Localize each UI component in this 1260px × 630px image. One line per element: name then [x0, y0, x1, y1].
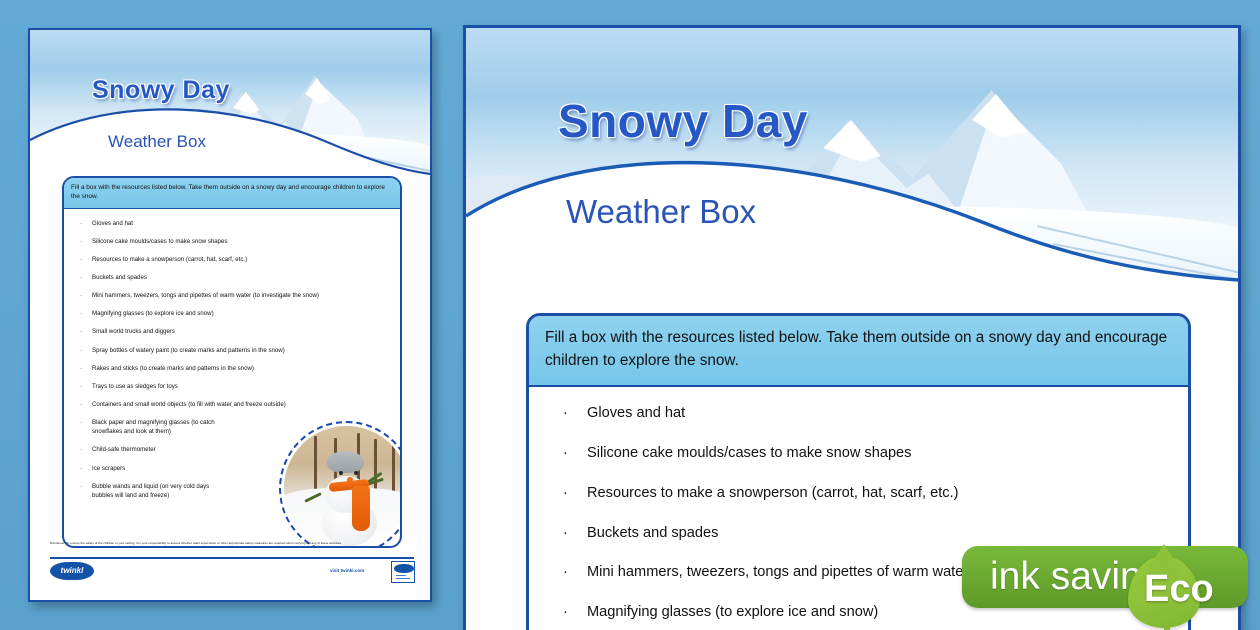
- resources-intro: Fill a box with the resources listed bel…: [529, 316, 1188, 387]
- ink-saving-eco-badge: ink saving Eco: [962, 528, 1260, 630]
- bullet-icon: ·: [80, 464, 82, 473]
- bullet-icon: ·: [80, 346, 82, 355]
- bullet-icon: ·: [80, 327, 82, 336]
- snowman-photo: [279, 421, 402, 548]
- list-item-label: Mini hammers, tweezers, tongs and pipett…: [92, 292, 319, 299]
- resources-intro: Fill a box with the resources listed bel…: [64, 178, 400, 209]
- list-item: · Silicone cake moulds/cases to make sno…: [563, 443, 1170, 465]
- page-title: Snowy Day: [92, 76, 230, 105]
- enlarged-header-image: Snowy Day: [466, 28, 1238, 290]
- twinkl-logo[interactable]: twinkl: [50, 562, 94, 580]
- bullet-icon: ·: [80, 445, 82, 454]
- thumbnail-header-image: Snowy Day: [30, 30, 430, 182]
- list-item-label: Silicone cake moulds/cases to make snow …: [92, 238, 228, 245]
- list-item-label: Buckets and spades: [92, 274, 147, 281]
- bullet-icon: ·: [563, 403, 568, 425]
- list-item-label: Gloves and hat: [92, 220, 133, 227]
- list-item-label: Black paper and magnifying glasses (to c…: [92, 419, 215, 435]
- badge-cloud-shape: [394, 564, 414, 573]
- list-item: · Resources to make a snowperson (carrot…: [80, 255, 392, 264]
- list-item: · Buckets and spades: [80, 273, 392, 282]
- visit-link[interactable]: visit twinkl.com: [330, 568, 364, 573]
- list-item: · Trays to use as sledges for toys: [80, 382, 392, 391]
- bullet-icon: ·: [80, 237, 82, 246]
- bullet-icon: ·: [80, 309, 82, 318]
- list-item: · Rakes and sticks (to create marks and …: [80, 364, 392, 373]
- twinkl-logo-text: twinkl: [61, 566, 84, 575]
- bullet-icon: ·: [80, 255, 82, 264]
- list-item: · Magnifying glasses (to explore ice and…: [80, 309, 392, 318]
- list-item-label: Small world trucks and diggers: [92, 328, 175, 335]
- twinkl-award-badge: [391, 561, 415, 583]
- list-item-label: Trays to use as sledges for toys: [92, 383, 178, 390]
- list-item-label: Silicone cake moulds/cases to make snow …: [587, 445, 911, 461]
- list-item: · Silicone cake moulds/cases to make sno…: [80, 237, 392, 246]
- bullet-icon: ·: [80, 418, 82, 427]
- list-item-label: Bubble wands and liquid (on very cold da…: [92, 483, 209, 499]
- eco-word: Eco: [1144, 568, 1214, 611]
- bullet-icon: ·: [563, 523, 568, 545]
- footer-divider: [50, 557, 414, 559]
- list-item-label: Gloves and hat: [587, 405, 685, 421]
- badge-line: [396, 575, 406, 576]
- list-item: · Spray bottles of watery paint (to crea…: [80, 346, 392, 355]
- list-item-label: Spray bottles of watery paint (to create…: [92, 347, 285, 354]
- list-item: · Child-safe thermometer: [80, 445, 232, 454]
- bullet-icon: ·: [80, 482, 82, 491]
- list-item-label: Resources to make a snowperson (carrot, …: [92, 256, 247, 263]
- list-item: · Containers and small world objects (to…: [80, 400, 392, 409]
- list-item-label: Containers and small world objects (to f…: [92, 401, 286, 408]
- bullet-icon: ·: [80, 364, 82, 373]
- list-item: · Small world trucks and diggers: [80, 327, 392, 336]
- list-item: · Gloves and hat: [80, 219, 392, 228]
- list-item: · Black paper and magnifying glasses (to…: [80, 418, 232, 436]
- preview-stage: Snowy Day Weather Box Fill a box with th…: [0, 0, 1260, 630]
- list-item: · Ice scrapers: [80, 464, 232, 473]
- list-item: · Resources to make a snowperson (carrot…: [563, 483, 1170, 505]
- list-item: · Mini hammers, tweezers, tongs and pipe…: [80, 291, 392, 300]
- header-wave-divider: [30, 98, 430, 182]
- page-subtitle: Weather Box: [108, 132, 206, 152]
- bullet-icon: ·: [80, 382, 82, 391]
- bullet-icon: ·: [563, 602, 568, 624]
- thumbnail-page[interactable]: Snowy Day Weather Box Fill a box with th…: [28, 28, 432, 602]
- badge-line: [396, 578, 410, 579]
- list-item-label: Ice scrapers: [92, 465, 125, 472]
- list-item-label: Magnifying glasses (to explore ice and s…: [587, 604, 878, 620]
- list-item-label: Buckets and spades: [587, 525, 718, 541]
- page-title: Snowy Day: [558, 94, 808, 148]
- bullet-icon: ·: [563, 443, 568, 465]
- bullet-icon: ·: [80, 291, 82, 300]
- list-item-label: Child-safe thermometer: [92, 446, 156, 453]
- bullet-icon: ·: [563, 562, 568, 584]
- bullet-icon: ·: [80, 400, 82, 409]
- resources-panel: Fill a box with the resources listed bel…: [62, 176, 402, 548]
- safety-disclaimer: Disclaimer: To ensure the safety of the …: [50, 541, 414, 546]
- resources-body: · Gloves and hat · Silicone cake moulds/…: [64, 209, 400, 517]
- bullet-icon: ·: [80, 273, 82, 282]
- bullet-icon: ·: [80, 219, 82, 228]
- list-item-label: Rakes and sticks (to create marks and pa…: [92, 365, 254, 372]
- page-subtitle: Weather Box: [566, 193, 756, 231]
- list-item-label: Magnifying glasses (to explore ice and s…: [92, 310, 214, 317]
- list-item: · Gloves and hat: [563, 403, 1170, 425]
- list-item-label: Resources to make a snowperson (carrot, …: [587, 485, 958, 501]
- bullet-icon: ·: [563, 483, 568, 505]
- list-item: · Bubble wands and liquid (on very cold …: [80, 482, 232, 500]
